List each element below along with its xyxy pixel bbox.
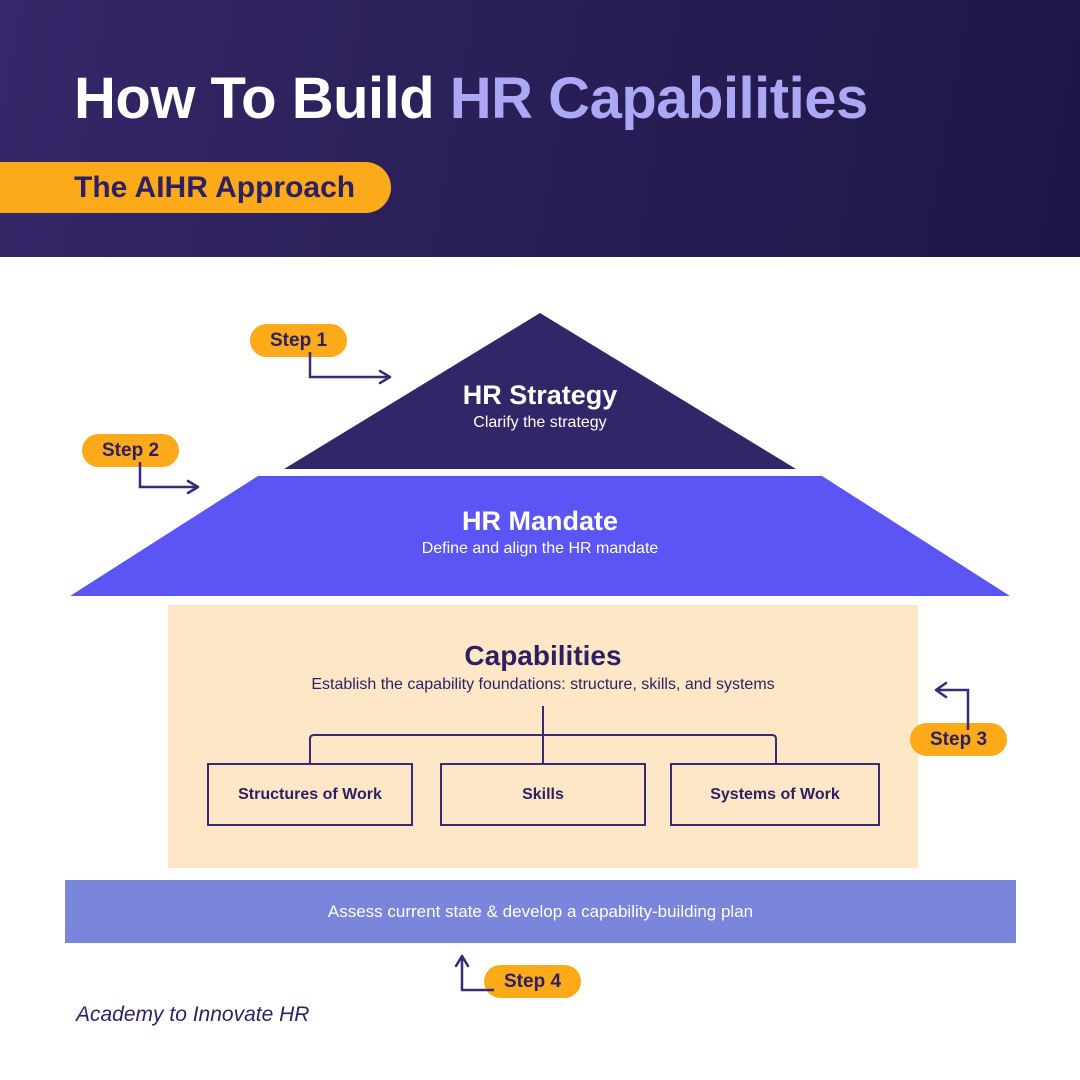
subtitle-pill-label: The AIHR Approach (74, 171, 355, 205)
header-banner: How To Build HR Capabilities The AIHR Ap… (0, 0, 1080, 257)
capability-item-skills[interactable]: Skills (440, 763, 646, 826)
step-badge-1[interactable]: Step 1 (250, 324, 347, 357)
pyramid-level-hr-strategy (284, 313, 796, 469)
subtitle-pill: The AIHR Approach (0, 162, 391, 213)
capabilities-subtitle: Establish the capability foundations: st… (168, 676, 918, 694)
page-title-primary: How To Build (74, 66, 450, 131)
step-badge-label: Step 2 (102, 440, 159, 462)
brand-footer-label: Academy to Innovate HR (76, 1003, 309, 1026)
step-1-arrow-icon (296, 352, 406, 392)
capability-item-label: Systems of Work (710, 786, 840, 804)
capability-item-systems-of-work[interactable]: Systems of Work (670, 763, 880, 826)
step-badge-3[interactable]: Step 3 (910, 723, 1007, 756)
step-badge-label: Step 4 (504, 971, 561, 993)
page-title-accent: HR Capabilities (450, 66, 868, 131)
capabilities-panel: Capabilities Establish the capability fo… (168, 605, 918, 868)
step-badge-label: Step 1 (270, 330, 327, 352)
pyramid-level-hr-mandate (70, 476, 1010, 596)
step-badge-2[interactable]: Step 2 (82, 434, 179, 467)
capability-item-label: Skills (522, 786, 564, 804)
brand-footer: Academy to Innovate HR (76, 1003, 309, 1027)
capability-item-structures-of-work[interactable]: Structures of Work (207, 763, 413, 826)
capability-item-label: Structures of Work (238, 786, 382, 804)
capabilities-title: Capabilities (168, 641, 918, 672)
infographic-canvas: How To Build HR Capabilities The AIHR Ap… (0, 0, 1080, 1080)
step-badge-4[interactable]: Step 4 (484, 965, 581, 998)
step-badge-label: Step 3 (930, 729, 987, 751)
foundation-bar: Assess current state & develop a capabil… (65, 880, 1016, 943)
foundation-bar-label: Assess current state & develop a capabil… (328, 902, 753, 922)
page-title: How To Build HR Capabilities (74, 70, 868, 128)
step-2-arrow-icon (128, 462, 218, 502)
